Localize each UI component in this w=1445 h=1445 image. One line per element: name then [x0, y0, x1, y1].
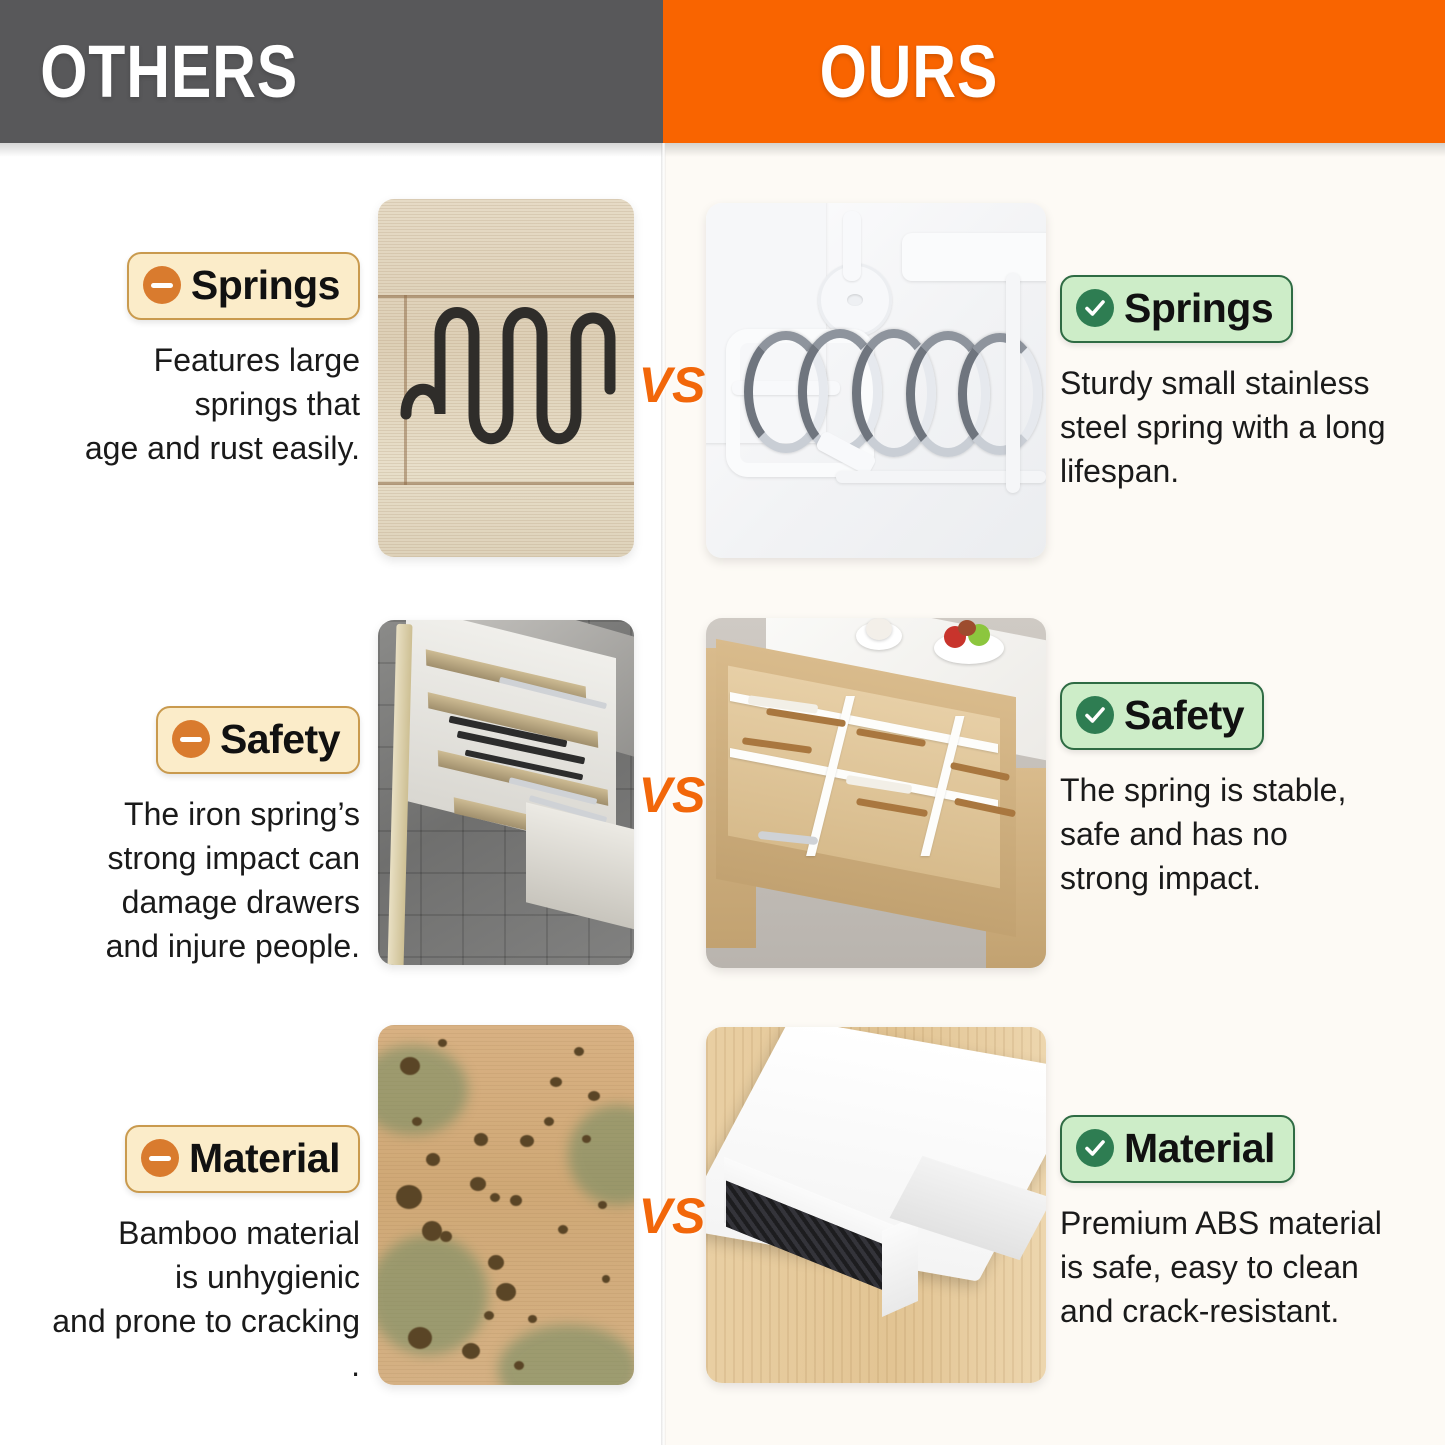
badge-ours-material: Material — [1060, 1115, 1295, 1183]
photo-others-safety — [378, 620, 634, 965]
desc-line: is unhygienic — [20, 1255, 360, 1299]
abs-divider-side — [882, 1215, 918, 1317]
desc-line: Features large — [20, 338, 360, 382]
header-ours: OURS — [663, 0, 1445, 143]
mold-spot — [588, 1091, 600, 1101]
mold-spot — [514, 1361, 524, 1370]
mold-spot — [544, 1117, 554, 1126]
minus-circle-icon — [141, 1139, 179, 1177]
minus-circle-icon — [172, 720, 210, 758]
row1-right-description: Sturdy small stainless steel spring with… — [1060, 361, 1430, 493]
coffee-cup — [866, 618, 892, 640]
mold-spot — [474, 1133, 488, 1146]
photo-ours-safety — [706, 618, 1046, 968]
badge-others-safety: Safety — [156, 706, 360, 774]
mold-spot — [598, 1201, 607, 1209]
header-others-title: OTHERS — [40, 35, 298, 109]
mold-spot — [574, 1047, 584, 1056]
row3-right-text-block: Material Premium ABS material is safe, e… — [1060, 1115, 1430, 1333]
desc-line: The spring is stable, — [1060, 768, 1430, 812]
check-circle-icon — [1076, 1129, 1114, 1167]
row3-left-text-block: Material Bamboo material is unhygienic a… — [20, 1125, 360, 1387]
desc-line: Premium ABS material — [1060, 1201, 1430, 1245]
mold-spot — [400, 1057, 420, 1075]
desc-line: and prone to cracking — [20, 1299, 360, 1343]
spring-coil — [958, 333, 1042, 455]
desc-line: springs that — [20, 382, 360, 426]
photo-ours-springs — [706, 203, 1046, 558]
desc-line: strong impact. — [1060, 856, 1430, 900]
badge-others-springs: Springs — [127, 252, 360, 320]
desc-line: The iron spring’s — [20, 792, 360, 836]
check-circle-icon — [1076, 696, 1114, 734]
row2-right-description: The spring is stable, safe and has no st… — [1060, 768, 1430, 900]
mold-spot — [582, 1135, 591, 1143]
mold-spot — [412, 1117, 422, 1126]
plastic-arm — [843, 211, 861, 281]
badge-others-material: Material — [125, 1125, 360, 1193]
desc-line: Sturdy small stainless — [1060, 361, 1430, 405]
minus-circle-icon — [143, 266, 181, 304]
row3-left-description: Bamboo material is unhygienic and prone … — [20, 1211, 360, 1387]
fruit — [958, 620, 976, 636]
mold-spot — [422, 1221, 442, 1241]
badge-label: Safety — [220, 717, 340, 761]
desc-line: safe and has no — [1060, 812, 1430, 856]
mold-spot — [520, 1135, 534, 1147]
mold-spot — [496, 1283, 516, 1301]
mold-spot — [490, 1193, 500, 1202]
desc-line: and injure people. — [20, 924, 360, 968]
row2-left-text-block: Safety The iron spring’s strong impact c… — [20, 706, 360, 968]
photo-others-springs — [378, 199, 634, 557]
desc-line: lifespan. — [1060, 449, 1430, 493]
photo-ours-material — [706, 1027, 1046, 1383]
row1-left-text-block: Springs Features large springs that age … — [20, 252, 360, 470]
vs-label-row3: VS — [632, 1191, 712, 1241]
photo-others-material — [378, 1025, 634, 1385]
row2-right-text-block: Safety The spring is stable, safe and ha… — [1060, 682, 1430, 900]
mold-spot — [602, 1275, 610, 1283]
comparison-row-springs: Springs Features large springs that age … — [0, 180, 1445, 580]
badge-ours-safety: Safety — [1060, 682, 1264, 750]
row1-left-description: Features large springs that age and rust… — [20, 338, 360, 470]
header-bar: OTHERS OURS — [0, 0, 1445, 143]
row1-right-text-block: Springs Sturdy small stainless steel spr… — [1060, 275, 1430, 493]
desc-line: Bamboo material — [20, 1211, 360, 1255]
header-others: OTHERS — [0, 0, 663, 143]
badge-label: Safety — [1124, 693, 1244, 737]
desc-line: damage drawers — [20, 880, 360, 924]
plastic-side-rail — [1006, 273, 1020, 493]
mold-spot — [558, 1225, 568, 1234]
desc-line: age and rust easily. — [20, 426, 360, 470]
mold-spot — [438, 1039, 447, 1047]
badge-label: Springs — [191, 263, 340, 307]
plastic-bracket-top — [902, 233, 1046, 281]
desc-line: is safe, easy to clean — [1060, 1245, 1430, 1289]
vs-label-row2: VS — [632, 770, 712, 820]
desc-line: steel spring with a long — [1060, 405, 1430, 449]
badge-label: Material — [189, 1136, 340, 1180]
zigzag-spring-icon — [378, 199, 634, 557]
desc-line: and crack-resistant. — [1060, 1289, 1430, 1333]
badge-ours-springs: Springs — [1060, 275, 1293, 343]
comparison-infographic: OTHERS OURS Springs Features large sprin… — [0, 0, 1445, 1445]
comparison-row-material: Material Bamboo material is unhygienic a… — [0, 1005, 1445, 1405]
row2-left-description: The iron spring’s strong impact can dama… — [20, 792, 360, 968]
desc-line: strong impact can — [20, 836, 360, 880]
mold-spot — [528, 1315, 537, 1323]
desc-line: . — [20, 1343, 360, 1387]
mold-spot — [440, 1231, 452, 1242]
check-circle-icon — [1076, 289, 1114, 327]
comparison-row-safety: Safety The iron spring’s strong impact c… — [0, 600, 1445, 1000]
mold-spot — [396, 1185, 422, 1209]
mold-spot — [484, 1311, 494, 1320]
header-shadow — [0, 143, 1445, 157]
mold-spot — [510, 1195, 522, 1206]
vs-label-row1: VS — [632, 360, 712, 410]
mold-spot — [426, 1153, 440, 1166]
badge-label: Material — [1124, 1126, 1275, 1170]
mold-spot — [550, 1077, 562, 1087]
badge-label: Springs — [1124, 286, 1273, 330]
mold-spot — [408, 1327, 432, 1349]
mold-spot — [470, 1177, 486, 1191]
mold-spot — [462, 1343, 480, 1359]
header-ours-title: OURS — [820, 35, 999, 109]
mold-spot — [488, 1255, 504, 1270]
row3-right-description: Premium ABS material is safe, easy to cl… — [1060, 1201, 1430, 1333]
